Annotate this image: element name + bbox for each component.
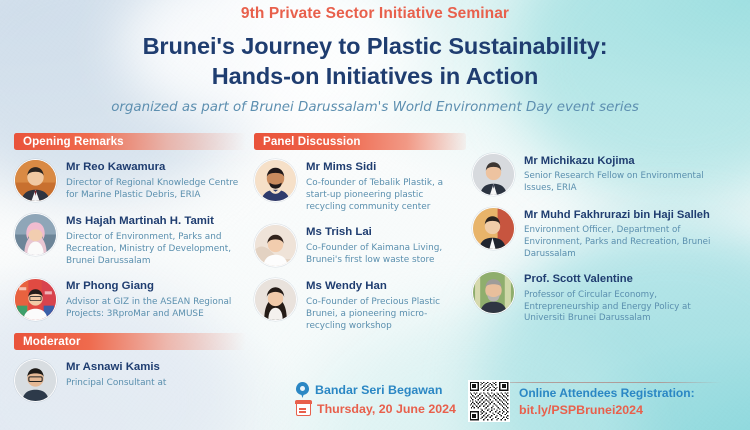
list-item: Ms Hajah Martinah H. Tamit Director of E… bbox=[14, 213, 246, 268]
seminar-poster: 9th Private Sector Initiative Seminar Br… bbox=[0, 0, 750, 430]
event-city: Bandar Seri Begawan bbox=[315, 383, 442, 397]
person-text: Ms Trish Lai Co-Founder of Kaimana Livin… bbox=[306, 224, 466, 267]
person-name: Ms Wendy Han bbox=[306, 280, 466, 294]
person-text: Prof. Scott Valentine Professor of Circu… bbox=[524, 271, 730, 325]
person-name: Mr Mims Sidi bbox=[306, 161, 466, 175]
section-header-opening-remarks: Opening Remarks bbox=[14, 133, 246, 150]
event-kicker: 9th Private Sector Initiative Seminar bbox=[0, 5, 750, 24]
person-role: Co-Founder of Precious Plastic Brunei, a… bbox=[306, 297, 466, 333]
person-text: Ms Hajah Martinah H. Tamit Director of E… bbox=[66, 213, 246, 268]
person-name: Mr Muhd Fakhrurazi bin Haji Salleh bbox=[524, 209, 730, 223]
section-header-panel-discussion: Panel Discussion bbox=[254, 133, 466, 150]
portrait-hajah-martinah-tamit-icon bbox=[15, 214, 56, 255]
portrait-muhd-fakhrurazi-haji-salleh-icon bbox=[473, 208, 514, 249]
page-title: Brunei's Journey to Plastic Sustainabili… bbox=[0, 31, 750, 91]
list-item: Mr Mims Sidi Co-founder of Tebalik Plast… bbox=[254, 159, 466, 214]
avatar bbox=[472, 271, 515, 314]
person-role: Environment Officer, Department of Envir… bbox=[524, 225, 730, 260]
portrait-trish-lai-icon bbox=[255, 225, 296, 266]
person-name: Prof. Scott Valentine bbox=[524, 273, 730, 287]
content-columns: Opening Remarks Mr Reo Kawamura Director… bbox=[0, 133, 750, 414]
person-role: Advisor at GIZ in the ASEAN Regional Pro… bbox=[66, 297, 246, 321]
registration-label: Online Attendees Registration: bbox=[519, 386, 695, 400]
person-text: Ms Wendy Han Co-Founder of Precious Plas… bbox=[306, 278, 466, 333]
section-header-moderator: Moderator bbox=[14, 333, 246, 350]
event-date: Thursday, 20 June 2024 bbox=[317, 402, 456, 416]
portrait-reo-kawamura-icon bbox=[15, 160, 56, 201]
person-name: Mr Asnawi Kamis bbox=[66, 361, 166, 375]
section-label-panel-discussion: Panel Discussion bbox=[263, 135, 361, 148]
person-role: Professor of Circular Economy, Entrepren… bbox=[524, 290, 730, 325]
list-item: Ms Trish Lai Co-Founder of Kaimana Livin… bbox=[254, 224, 466, 267]
person-name: Ms Trish Lai bbox=[306, 226, 466, 240]
person-name: Ms Hajah Martinah H. Tamit bbox=[66, 215, 246, 229]
avatar bbox=[14, 159, 57, 202]
person-text: Mr Reo Kawamura Director of Regional Kno… bbox=[66, 159, 246, 202]
person-role: Senior Research Fellow on Environmental … bbox=[524, 171, 730, 194]
avatar bbox=[14, 278, 57, 321]
portrait-michikazu-kojima-icon bbox=[473, 154, 514, 195]
map-pin-icon bbox=[296, 382, 309, 398]
person-role: Director of Environment, Parks and Recre… bbox=[66, 232, 246, 268]
list-item: Mr Muhd Fakhrurazi bin Haji Salleh Envir… bbox=[472, 207, 730, 261]
portrait-phong-giang-icon bbox=[15, 279, 56, 320]
person-name: Mr Phong Giang bbox=[66, 280, 246, 294]
person-role: Co-Founder of Kaimana Living, Brunei's f… bbox=[306, 243, 466, 267]
list-item: Mr Reo Kawamura Director of Regional Kno… bbox=[14, 159, 246, 202]
date-row: Thursday, 20 June 2024 bbox=[296, 401, 456, 416]
person-role: Co-founder of Tebalik Plastik, a start-u… bbox=[306, 178, 466, 214]
person-text: Mr Mims Sidi Co-founder of Tebalik Plast… bbox=[306, 159, 466, 214]
list-item: Mr Phong Giang Advisor at GIZ in the ASE… bbox=[14, 278, 246, 321]
person-text: Mr Phong Giang Advisor at GIZ in the ASE… bbox=[66, 278, 246, 321]
registration-text: Online Attendees Registration: bit.ly/PS… bbox=[519, 386, 695, 417]
person-role: Director of Regional Knowledge Centre fo… bbox=[66, 178, 246, 202]
column-panel-discussion-left: Panel Discussion Mr Mims Sidi Co-founder… bbox=[254, 133, 466, 344]
avatar bbox=[472, 153, 515, 196]
avatar bbox=[254, 224, 297, 267]
person-text: Mr Michikazu Kojima Senior Research Fell… bbox=[524, 153, 730, 195]
poster-header: 9th Private Sector Initiative Seminar Br… bbox=[0, 0, 750, 115]
section-label-moderator: Moderator bbox=[23, 335, 81, 348]
location-row: Bandar Seri Begawan bbox=[296, 382, 456, 398]
portrait-wendy-han-icon bbox=[255, 279, 296, 320]
poster-footer: Bandar Seri Begawan Thursday, 20 June 20… bbox=[0, 380, 750, 428]
avatar bbox=[254, 159, 297, 202]
portrait-scott-valentine-icon bbox=[473, 272, 514, 313]
registration-link[interactable]: bit.ly/PSPBrunei2024 bbox=[519, 403, 695, 417]
avatar bbox=[14, 213, 57, 256]
person-name: Mr Reo Kawamura bbox=[66, 161, 246, 175]
column-panel-discussion-right: Mr Michikazu Kojima Senior Research Fell… bbox=[472, 133, 730, 336]
page-title-line-2: Hands-on Initiatives in Action bbox=[0, 61, 750, 91]
event-subtitle: organized as part of Brunei Darussalam's… bbox=[0, 100, 750, 115]
calendar-icon bbox=[296, 401, 311, 416]
avatar bbox=[472, 207, 515, 250]
avatar bbox=[254, 278, 297, 321]
person-name: Mr Michikazu Kojima bbox=[524, 155, 730, 169]
list-item: Mr Michikazu Kojima Senior Research Fell… bbox=[472, 153, 730, 196]
qr-code-icon[interactable] bbox=[468, 380, 510, 422]
list-item: Prof. Scott Valentine Professor of Circu… bbox=[472, 271, 730, 325]
portrait-mims-sidi-icon bbox=[255, 160, 296, 201]
person-text: Mr Muhd Fakhrurazi bin Haji Salleh Envir… bbox=[524, 207, 730, 261]
list-item: Ms Wendy Han Co-Founder of Precious Plas… bbox=[254, 278, 466, 333]
column-opening-remarks: Opening Remarks Mr Reo Kawamura Director… bbox=[14, 133, 246, 414]
page-title-line-1: Brunei's Journey to Plastic Sustainabili… bbox=[0, 31, 750, 61]
event-location-block: Bandar Seri Begawan Thursday, 20 June 20… bbox=[296, 382, 456, 416]
registration-block[interactable]: Online Attendees Registration: bit.ly/PS… bbox=[468, 380, 695, 422]
section-label-opening-remarks: Opening Remarks bbox=[23, 135, 124, 148]
